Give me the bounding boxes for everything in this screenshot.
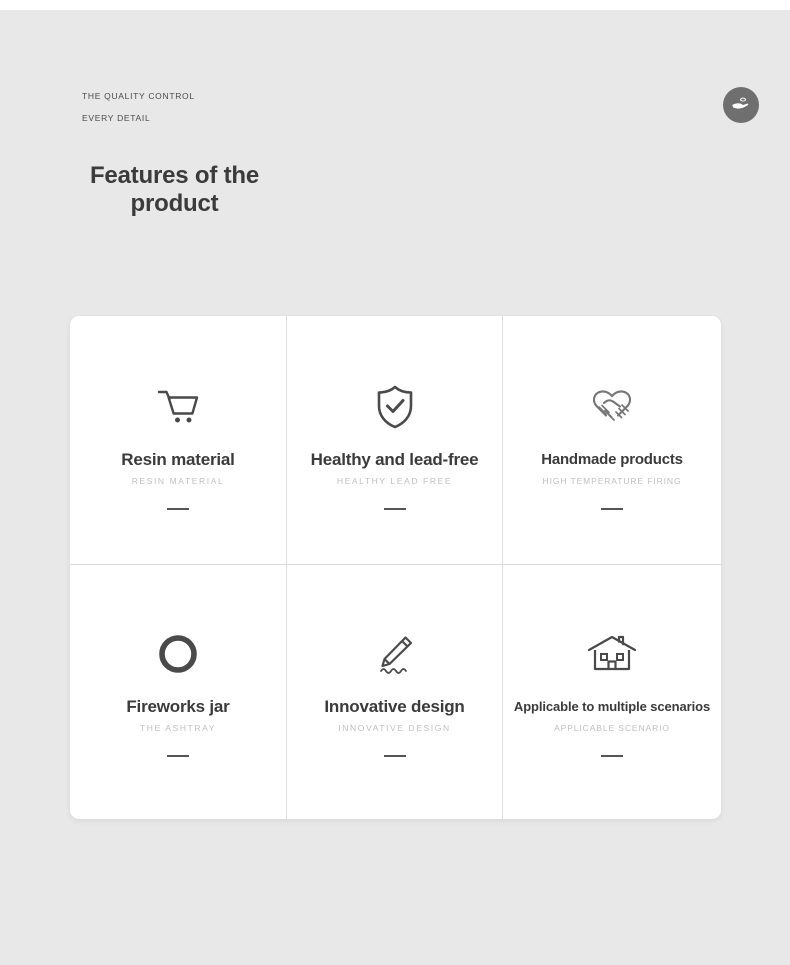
feature-divider xyxy=(384,508,406,510)
feature-card-fireworks-jar[interactable]: Fireworks jar THE ASHTRAY xyxy=(70,565,287,819)
feature-divider xyxy=(384,755,406,757)
feature-divider xyxy=(601,755,623,757)
top-white-strip xyxy=(0,0,790,10)
pencil-icon xyxy=(372,623,418,685)
feature-title: Applicable to multiple scenarios xyxy=(508,697,716,716)
features-panel: Resin material RESIN MATERIAL Healthy an… xyxy=(70,316,721,819)
feature-card-handmade-products[interactable]: Handmade products HIGH TEMPERATURE FIRIN… xyxy=(503,316,721,565)
feature-subtitle: HIGH TEMPERATURE FIRING xyxy=(539,476,686,486)
feature-card-innovative-design[interactable]: Innovative design INNOVATIVE DESIGN xyxy=(287,565,503,819)
hand-holding-icon xyxy=(730,92,752,119)
brand-badge[interactable] xyxy=(723,87,759,123)
feature-card-resin-material[interactable]: Resin material RESIN MATERIAL xyxy=(70,316,287,565)
feature-title: Handmade products xyxy=(535,450,689,469)
house-icon xyxy=(586,623,638,685)
eyebrow-line-1: THE QUALITY CONTROL xyxy=(82,91,195,101)
ring-circle-icon xyxy=(157,623,199,685)
feature-title: Resin material xyxy=(115,450,240,469)
feature-subtitle: INNOVATIVE DESIGN xyxy=(334,723,454,733)
feature-title: Innovative design xyxy=(318,697,470,716)
feature-card-applicable-scenarios[interactable]: Applicable to multiple scenarios APPLICA… xyxy=(503,565,721,819)
feature-subtitle: APPLICABLE SCENARIO xyxy=(550,723,674,733)
feature-subtitle: RESIN MATERIAL xyxy=(128,476,229,486)
feature-title: Healthy and lead-free xyxy=(305,450,485,469)
feature-title: Fireworks jar xyxy=(120,697,235,716)
shield-check-icon xyxy=(374,376,416,438)
shopping-cart-icon xyxy=(155,376,201,438)
page-title: Features of the product xyxy=(82,162,267,218)
feature-divider xyxy=(167,508,189,510)
feature-subtitle: HEALTHY LEAD FREE xyxy=(333,476,456,486)
feature-divider xyxy=(601,508,623,510)
feature-card-healthy-lead-free[interactable]: Healthy and lead-free HEALTHY LEAD FREE xyxy=(287,316,503,565)
eyebrow-line-2: EVERY DETAIL xyxy=(82,113,150,123)
page-root: THE QUALITY CONTROL EVERY DETAIL Feature… xyxy=(0,0,790,965)
handshake-icon xyxy=(582,376,642,438)
feature-divider xyxy=(167,755,189,757)
feature-subtitle: THE ASHTRAY xyxy=(136,723,220,733)
